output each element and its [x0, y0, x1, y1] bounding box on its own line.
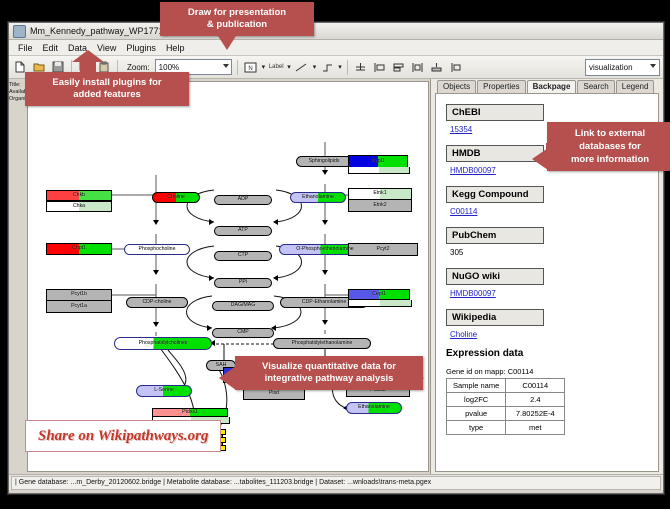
db-link-nugo[interactable]: HMDB00097: [450, 289, 648, 298]
callout-share-text: Share on Wikipathways.org: [38, 428, 208, 444]
menu-item-help[interactable]: Help: [161, 43, 190, 53]
node-etnk1[interactable]: Etnk1: [348, 188, 412, 200]
menu-bar: File Edit Data View Plugins Help: [9, 40, 663, 56]
callout-plugins-arrow: [72, 50, 104, 62]
svg-text:N: N: [249, 66, 253, 72]
node-atp[interactable]: ATP: [214, 226, 272, 236]
callout-plugins: Easily install plugins for added feature…: [25, 72, 189, 106]
node-phosphatidylcholines[interactable]: Phosphatidylcholines: [114, 337, 212, 350]
label-icon[interactable]: Label: [268, 59, 284, 75]
tab-objects[interactable]: Objects: [437, 80, 476, 93]
expr-key-log2fc: log2FC: [447, 393, 506, 407]
expr-val-sample: C00114: [506, 379, 565, 393]
callout-plugins-text: Easily install plugins for added feature…: [52, 77, 161, 100]
stack-icon[interactable]: [429, 59, 445, 75]
visualization-value: visualization: [589, 63, 633, 72]
callout-draw: Draw for presentation & publication: [160, 2, 314, 36]
expr-key-type: type: [447, 421, 506, 435]
arrow-down-icon: [322, 320, 328, 325]
chevron-down-icon: [223, 64, 229, 68]
node-phosphocholine[interactable]: Phosphocholine: [124, 244, 190, 255]
node-dag-mag[interactable]: DAG/MAG: [212, 301, 274, 311]
db-value-pubchem: 305: [450, 248, 648, 257]
node-pcyt1a[interactable]: Pcyt1a: [46, 301, 112, 313]
expression-data-title: Expression data: [446, 348, 648, 359]
node-adp[interactable]: ADP: [214, 195, 272, 205]
arrow-down-icon: [322, 220, 328, 225]
callout-draw-arrow: [218, 36, 236, 50]
callout-links: Link to external databases for more info…: [547, 122, 670, 171]
tab-backpage[interactable]: Backpage: [527, 80, 577, 93]
table-row: type met: [447, 421, 565, 435]
node-ethanolamine-bottom[interactable]: Ethanolamine: [346, 402, 402, 414]
tab-legend[interactable]: Legend: [616, 80, 655, 93]
zoom-value: 100%: [159, 63, 179, 72]
node-pcyt2[interactable]: Pcyt2: [348, 243, 418, 256]
node-l-serine-left[interactable]: L-Serine: [136, 385, 192, 397]
expr-val-pvalue: 7.80252E-4: [506, 407, 565, 421]
toolbar-divider-3: [237, 60, 238, 75]
toolbar-divider-4: [347, 60, 348, 75]
arrow-right-icon: [209, 219, 214, 225]
arrow-right-icon: [209, 275, 214, 281]
table-row: log2FC 2.4: [447, 393, 565, 407]
db-link-kegg[interactable]: C00114: [450, 207, 648, 216]
distribute-icon[interactable]: [410, 59, 426, 75]
side-panel-tabs: Objects Properties Backpage Search Legen…: [431, 79, 663, 93]
callout-share: Share on Wikipathways.org: [25, 420, 221, 452]
db-header-chebi: ChEBI: [446, 104, 544, 121]
line-icon[interactable]: [294, 59, 310, 75]
node-cmp[interactable]: CMP: [212, 328, 274, 338]
node-chka[interactable]: Chka: [46, 201, 112, 212]
db-header-wikipedia: Wikipedia: [446, 309, 544, 326]
node-sgpl1-lower: [348, 167, 410, 174]
callout-links-text: Link to external databases for more info…: [571, 128, 649, 165]
line-dropdown-icon[interactable]: ▾: [313, 63, 317, 71]
table-row: pvalue 7.80252E-4: [447, 407, 565, 421]
db-header-nugo: NuGO wiki: [446, 268, 544, 285]
arrow-right-icon: [207, 325, 212, 331]
callout-visualize-arrow-right: [407, 366, 424, 390]
callout-visualize-text: Visualize quantitative data for integrat…: [262, 361, 396, 384]
callout-visualize: Visualize quantitative data for integrat…: [235, 356, 423, 390]
arrow-down-icon: [153, 270, 159, 275]
pathway-metadata: Title: Availab Organis: [9, 79, 27, 474]
node-ppi[interactable]: PPi: [214, 278, 272, 288]
status-bar: | Gene database: ...m_Derby_20120602.bri…: [9, 474, 663, 490]
node-ethanolamine[interactable]: Ethanolamine: [290, 192, 346, 203]
anchor-icon[interactable]: [353, 59, 369, 75]
arrow-left-icon: [273, 275, 278, 281]
menu-item-plugins[interactable]: Plugins: [121, 43, 161, 53]
gene-id-label: Gene id on mapp: C00114: [446, 367, 648, 376]
db-header-pubchem: PubChem: [446, 227, 544, 244]
callout-draw-text: Draw for presentation & publication: [188, 7, 286, 30]
align-left-icon[interactable]: [372, 59, 388, 75]
arrow-down-icon: [322, 170, 328, 175]
status-text: | Gene database: ...m_Derby_20120602.bri…: [11, 476, 661, 490]
arrow-down-icon: [153, 220, 159, 225]
node-choline-top[interactable]: Choline: [152, 192, 200, 203]
db-link-wikipedia[interactable]: Choline: [450, 330, 648, 339]
db-header-hmdb: HMDB: [446, 145, 544, 162]
pathway-canvas[interactable]: Sphingolipids Choline Ethanolamine ADP A…: [27, 81, 429, 472]
expr-val-type: met: [506, 421, 565, 435]
align-horizontal-icon[interactable]: [391, 59, 407, 75]
title-bar: Mm_Kennedy_pathway_WP1771_45176.gpml: [9, 23, 663, 40]
data-node-icon[interactable]: N: [243, 59, 259, 75]
arrow-left-icon: [273, 219, 278, 225]
table-row: Sample name C00114: [447, 379, 565, 393]
callout-links-stem: [546, 143, 552, 155]
zoom-label: Zoom:: [127, 63, 150, 72]
node-chkb[interactable]: Chkb: [46, 190, 112, 201]
node-chpt1[interactable]: Chpt1: [46, 243, 112, 255]
arrow-down-icon: [322, 270, 328, 275]
expr-key-pvalue: pvalue: [447, 407, 506, 421]
label-dropdown-icon[interactable]: ▾: [287, 63, 291, 71]
data-node-dropdown-icon[interactable]: ▾: [262, 63, 266, 71]
node-etnk2[interactable]: Etnk2: [348, 200, 412, 212]
tab-properties[interactable]: Properties: [477, 80, 525, 93]
db-header-kegg: Kegg Compound: [446, 186, 544, 203]
group-icon[interactable]: [448, 59, 464, 75]
app-icon: [13, 25, 26, 38]
node-pcyt1b[interactable]: Pcyt1b: [46, 289, 112, 301]
node-cdp-choline[interactable]: CDP-choline: [126, 297, 188, 308]
visualization-select[interactable]: visualization: [585, 59, 660, 76]
connector-dropdown-icon[interactable]: ▾: [338, 63, 342, 71]
chevron-down-icon: [650, 64, 656, 68]
node-ctp[interactable]: CTP: [214, 251, 272, 261]
expr-val-log2fc: 2.4: [506, 393, 565, 407]
node-cept1[interactable]: Cept1: [348, 289, 410, 300]
node-ptdss1[interactable]: Ptdss1: [152, 408, 228, 417]
node-cept1-lower: [348, 300, 412, 307]
arrow-down-icon: [153, 322, 159, 327]
expr-key-sample: Sample name: [447, 379, 506, 393]
expression-table: Sample name C00114 log2FC 2.4 pvalue 7.8…: [446, 378, 565, 435]
tab-search[interactable]: Search: [577, 80, 614, 93]
callout-visualize-arrow-left: [219, 366, 236, 390]
connector-icon[interactable]: [319, 59, 335, 75]
menu-item-edit[interactable]: Edit: [38, 43, 64, 53]
node-phosphatidylethanolamine[interactable]: Phosphatidylethanolamine: [273, 338, 371, 349]
menu-item-file[interactable]: File: [13, 43, 38, 53]
node-sphingolipids[interactable]: Sphingolipids: [296, 156, 352, 167]
